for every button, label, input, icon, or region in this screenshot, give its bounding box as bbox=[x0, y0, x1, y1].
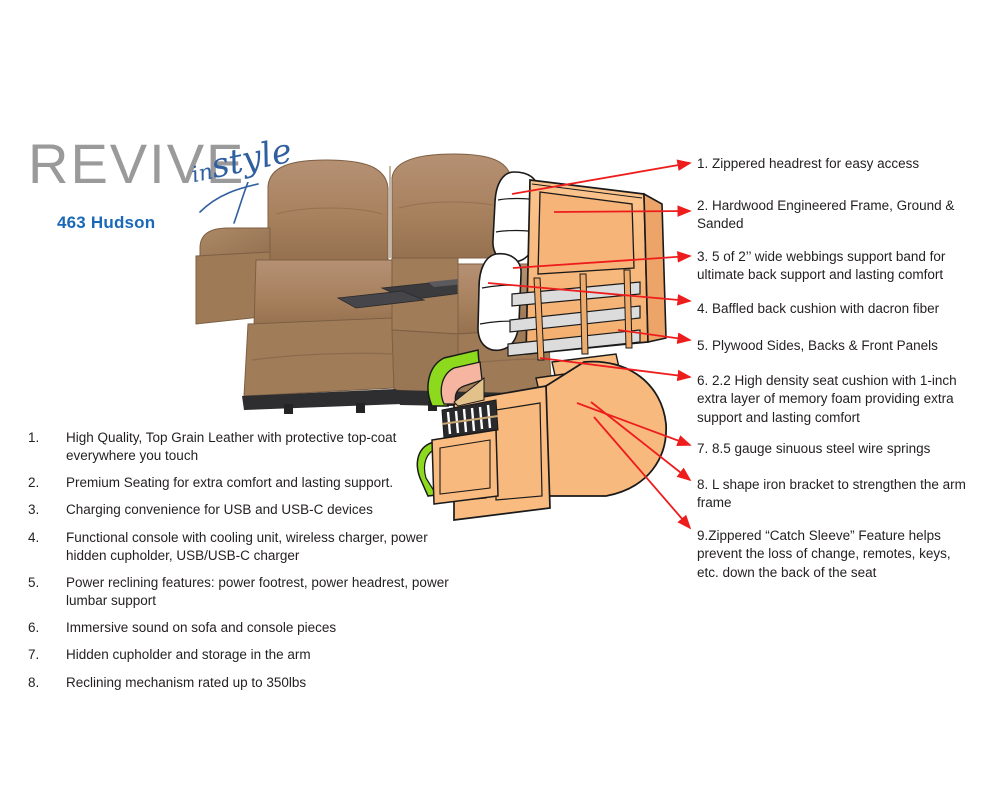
list-item-text: High Quality, Top Grain Leather with pro… bbox=[66, 429, 458, 465]
list-item-number: 2. bbox=[28, 474, 66, 492]
plywood-side-panel bbox=[546, 362, 666, 496]
list-item-text: Hidden cupholder and storage in the arm bbox=[66, 646, 311, 664]
callout-item-6: 6. 2.2 High density seat cushion with 1-… bbox=[697, 372, 969, 427]
callout-item-3: 3. 5 of 2’’ wide webbings support band f… bbox=[697, 248, 969, 285]
callout-item-2: 2. Hardwood Engineered Frame, Ground & S… bbox=[697, 197, 969, 234]
list-item: 1. High Quality, Top Grain Leather with … bbox=[28, 429, 458, 465]
list-item: 5. Power reclining features: power footr… bbox=[28, 574, 458, 610]
list-item-number: 3. bbox=[28, 501, 66, 519]
poster-canvas: REVIVE instyle 463 Hudson bbox=[0, 0, 1000, 800]
sofa-cutaway-illustration bbox=[196, 148, 666, 448]
list-item-number: 6. bbox=[28, 619, 66, 637]
callout-item-5: 5. Plywood Sides, Backs & Front Panels bbox=[697, 337, 969, 355]
list-item: 8. Reclining mechanism rated up to 350lb… bbox=[28, 674, 458, 692]
list-item-number: 7. bbox=[28, 646, 66, 664]
list-item-number: 1. bbox=[28, 429, 66, 465]
callout-item-9: 9.Zippered “Catch Sleeve” Feature helps … bbox=[697, 527, 969, 582]
callout-item-7: 7. 8.5 gauge sinuous steel wire springs bbox=[697, 440, 969, 458]
list-item-text: Charging convenience for USB and USB-C d… bbox=[66, 501, 373, 519]
callout-item-4: 4. Baffled back cushion with dacron fibe… bbox=[697, 300, 969, 318]
list-item-number: 8. bbox=[28, 674, 66, 692]
list-item: 2. Premium Seating for extra comfort and… bbox=[28, 474, 458, 492]
list-item-text: Immersive sound on sofa and console piec… bbox=[66, 619, 336, 637]
features-list: 1. High Quality, Top Grain Leather with … bbox=[28, 429, 458, 701]
list-item: 4. Functional console with cooling unit,… bbox=[28, 529, 458, 565]
page-title: 463 Hudson bbox=[57, 213, 155, 233]
list-item: 6. Immersive sound on sofa and console p… bbox=[28, 619, 458, 637]
product-diagram bbox=[196, 148, 666, 438]
list-item: 7. Hidden cupholder and storage in the a… bbox=[28, 646, 458, 664]
list-item-text: Premium Seating for extra comfort and la… bbox=[66, 474, 393, 492]
list-item-text: Power reclining features: power footrest… bbox=[66, 574, 458, 610]
list-item-text: Reclining mechanism rated up to 350lbs bbox=[66, 674, 306, 692]
list-item-text: Functional console with cooling unit, wi… bbox=[66, 529, 458, 565]
list-item-number: 4. bbox=[28, 529, 66, 565]
callout-item-1: 1. Zippered headrest for easy access bbox=[697, 155, 969, 173]
callout-item-8: 8. L shape iron bracket to strengthen th… bbox=[697, 476, 969, 513]
list-item: 3. Charging convenience for USB and USB-… bbox=[28, 501, 458, 519]
list-item-number: 5. bbox=[28, 574, 66, 610]
